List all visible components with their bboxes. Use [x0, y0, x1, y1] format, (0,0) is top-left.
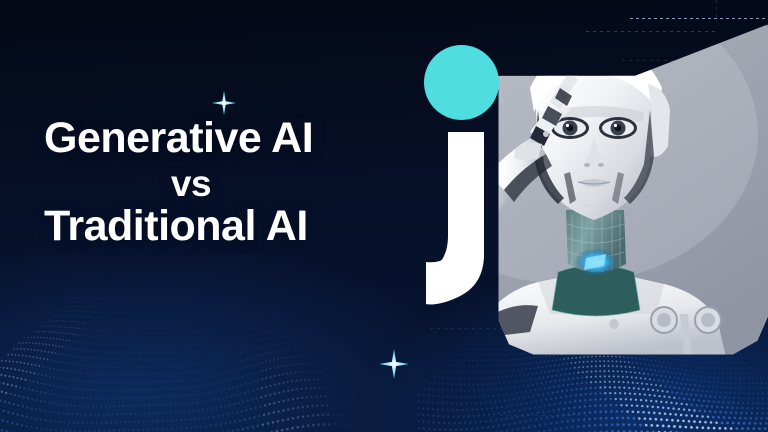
- hero-image-group: [418, 14, 768, 358]
- sparkle-star-icon: [379, 349, 409, 379]
- page-title: Generative AI vs Traditional AI: [44, 116, 374, 249]
- headline-line-1: Generative AI: [44, 116, 374, 162]
- banner: Generative AI vs Traditional AI: [0, 0, 768, 432]
- teal-circle: [424, 45, 499, 120]
- particle-wave-mesh: [0, 266, 360, 432]
- sparkle-star-icon: [211, 90, 237, 116]
- headline-line-2: vs: [44, 164, 374, 203]
- headline-line-3: Traditional AI: [44, 204, 374, 250]
- white-j-hook-shape: [418, 132, 514, 308]
